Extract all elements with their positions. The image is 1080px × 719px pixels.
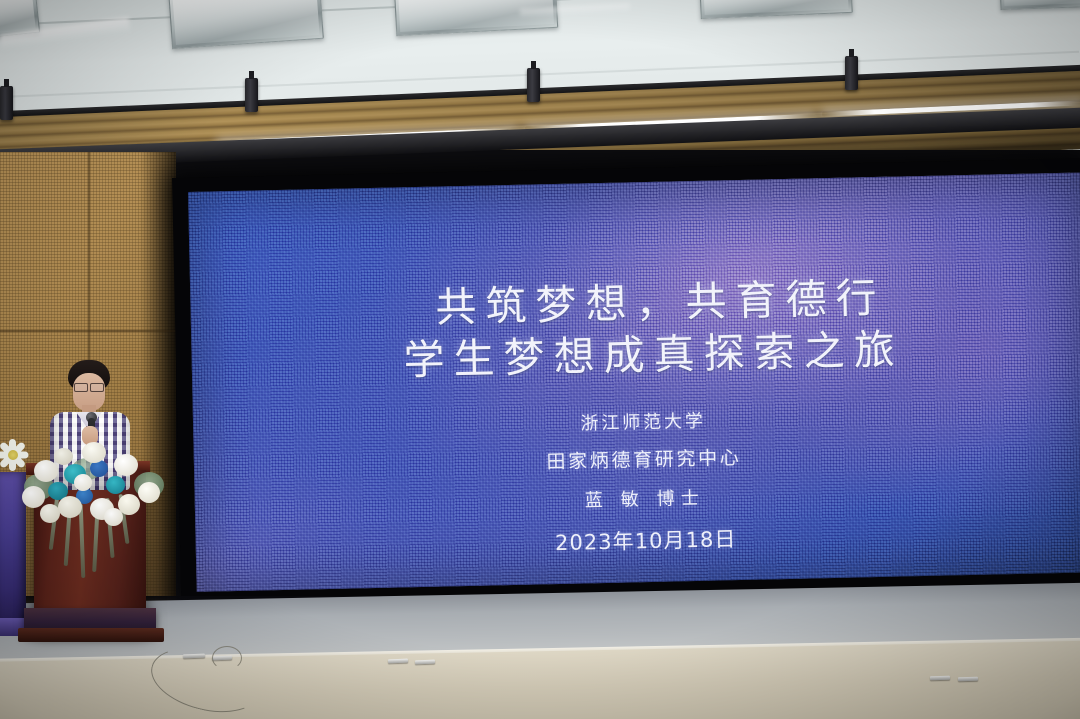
slide-subtitle-university: 浙江师范大学	[580, 407, 706, 436]
presentation-slide: 共筑梦想，共育德行 学生梦想成真探索之旅 浙江师范大学 田家炳德育研究中心 蓝 …	[188, 172, 1080, 592]
floor-clip	[415, 660, 435, 665]
slide-subtitle-presenter: 蓝 敏 博士	[584, 484, 705, 513]
floor-clip	[388, 659, 408, 664]
flower-arrangement	[18, 438, 168, 568]
track-light-icon	[0, 86, 13, 120]
track-light-icon	[245, 78, 258, 112]
slide-title-line-2: 学生梦想成真探索之旅	[403, 324, 904, 385]
floor-clip	[958, 677, 978, 682]
podium-foot	[18, 628, 164, 642]
led-screen: 共筑梦想，共育德行 学生梦想成真探索之旅 浙江师范大学 田家炳德育研究中心 蓝 …	[188, 172, 1080, 592]
slide-date: 2023年10月18日	[555, 523, 737, 557]
slide-subtitle-center: 田家炳德育研究中心	[546, 443, 741, 474]
floor-clip	[930, 676, 950, 681]
track-light-icon	[527, 68, 540, 102]
stage-cable	[212, 646, 242, 670]
glasses-icon	[73, 383, 105, 390]
slide-title-line-1: 共筑梦想，共育德行	[435, 273, 886, 333]
track-light-icon	[845, 56, 858, 90]
daisy-center	[8, 450, 18, 460]
conference-hall-photo: 共筑梦想，共育德行 学生梦想成真探索之旅 浙江师范大学 田家炳德育研究中心 蓝 …	[0, 0, 1080, 719]
